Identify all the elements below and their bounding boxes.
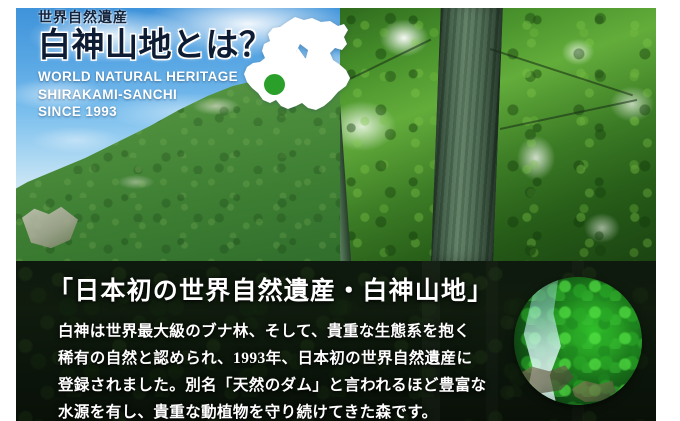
english-line-1: WORLD NATURAL HERITAGE [38,68,273,85]
bottom-banner: 「日本初の世界自然遺産・白神山地」 白神は世界最大級のブナ林、そして、貴重な生態… [16,261,656,421]
page-title: 白神山地とは？ [38,29,273,63]
content-frame: 世界自然遺産 白神山地とは？ WORLD NATURAL HERITAGE SH… [16,8,656,421]
paragraph-line-2: 稀有の自然と認められ、1993年、日本初の世界自然遺産に [58,345,498,372]
english-subtitle: WORLD NATURAL HERITAGE SHIRAKAMI-SANCHI … [38,68,273,120]
english-line-2: SHIRAKAMI-SANCHI [38,86,273,103]
section-heading: 「日本初の世界自然遺産・白神山地」 [48,279,493,304]
banner-page: 世界自然遺産 白神山地とは？ WORLD NATURAL HERITAGE SH… [0,0,680,421]
english-line-3: SINCE 1993 [38,103,273,120]
kicker-text: 世界自然遺産 [38,12,273,26]
paragraph-line-3: 登録されました。別名「天然のダム」と言われるほど豊富な [58,372,498,399]
headline-block: 世界自然遺産 白神山地とは？ WORLD NATURAL HERITAGE SH… [38,12,273,120]
paragraph-line-4: 水源を有し、貴重な動植物を守り続けてきた森です。 [58,399,498,421]
foreground-trunk [431,8,503,261]
description-paragraph: 白神は世界最大級のブナ林、そして、貴重な生態系を抱く 稀有の自然と認められ、19… [58,318,498,421]
top-banner: 世界自然遺産 白神山地とは？ WORLD NATURAL HERITAGE SH… [16,8,656,261]
beech-canopy-photo [340,8,656,261]
paragraph-line-1: 白神は世界最大級のブナ林、そして、貴重な生態系を抱く [58,318,498,345]
mossy-stream-photo [514,277,642,405]
